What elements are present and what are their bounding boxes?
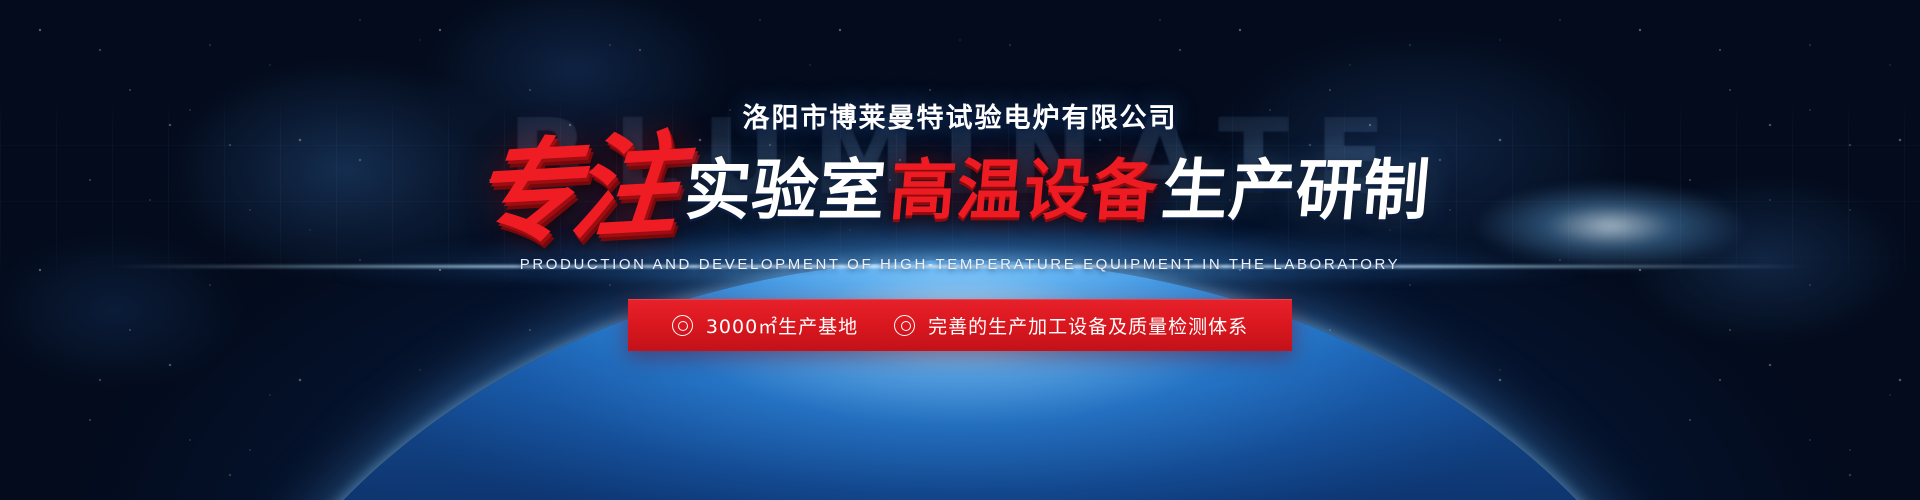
feature-badge-label-1: 3000㎡生产基地 [706,312,858,339]
headline-brush-word: 专注 [466,129,678,252]
headline-segment-white-1: 实验室 [682,158,889,224]
banner-content: 洛阳市博莱曼特试验电炉有限公司 专注 实验室 高温设备 生产研制 PRODUCT… [0,0,1920,500]
company-name: 洛阳市博莱曼特试验电炉有限公司 [743,96,1178,135]
hero-banner: BLUMINATE 洛阳市博莱曼特试验电炉有限公司 专注 实验室 高温设备 生产… [0,0,1920,500]
headline-segment-white-2: 生产研制 [1159,158,1433,224]
double-circle-icon [672,315,693,336]
feature-badge-item-2: 完善的生产加工设备及质量检测体系 [894,312,1248,339]
headline-segment-red: 高温设备 [887,158,1161,224]
headline: 专注 实验室 高温设备 生产研制 [490,145,1429,237]
feature-badge-label-2: 完善的生产加工设备及质量检测体系 [928,312,1248,339]
feature-badge-item-1: 3000㎡生产基地 [672,312,858,339]
double-circle-icon [894,315,915,336]
feature-badge-bar: 3000㎡生产基地 完善的生产加工设备及质量检测体系 [628,299,1292,351]
english-subtitle: PRODUCTION AND DEVELOPMENT OF HIGH-TEMPE… [520,256,1401,273]
